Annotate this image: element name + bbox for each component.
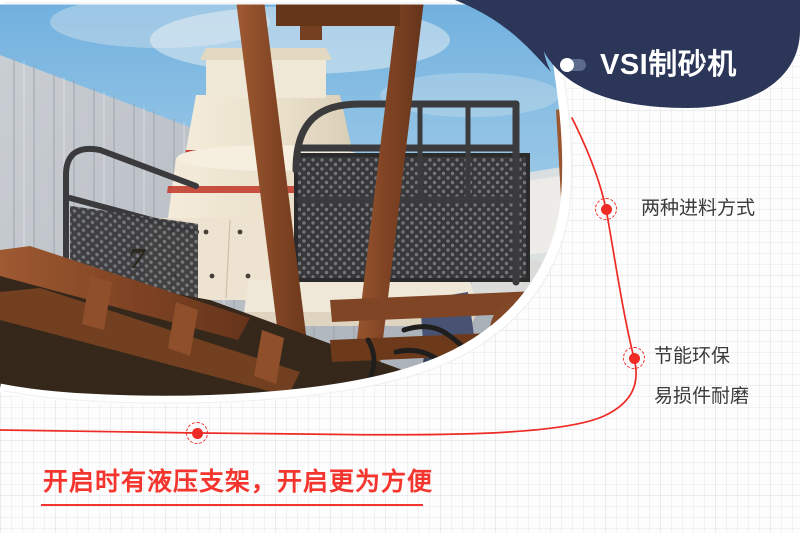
- feature-label-wear-resistant: 易损件耐磨: [654, 387, 749, 406]
- node-feed-methods-marker[interactable]: [595, 198, 617, 220]
- navy-header-panel: [455, 0, 800, 175]
- hydraulic-caption-underline: [41, 504, 423, 506]
- page-title: VSI制砂机: [600, 51, 737, 80]
- banner-stage: 7 VSI制砂机: [0, 0, 800, 533]
- node-core: [629, 353, 640, 364]
- bullet-capsule-icon: [560, 58, 586, 72]
- node-hydraulic-caption-marker[interactable]: [186, 422, 208, 444]
- feature-label-two-feed-modes: 两种进料方式: [641, 199, 755, 218]
- node-core: [192, 428, 203, 439]
- node-core: [601, 204, 612, 215]
- feature-label-energy-saving: 节能环保: [654, 347, 730, 366]
- node-energy-saving-marker[interactable]: [623, 347, 645, 369]
- hydraulic-caption: 开启时有液压支架，开启更为方便: [43, 470, 433, 495]
- banner-title-row: VSI制砂机: [560, 44, 737, 86]
